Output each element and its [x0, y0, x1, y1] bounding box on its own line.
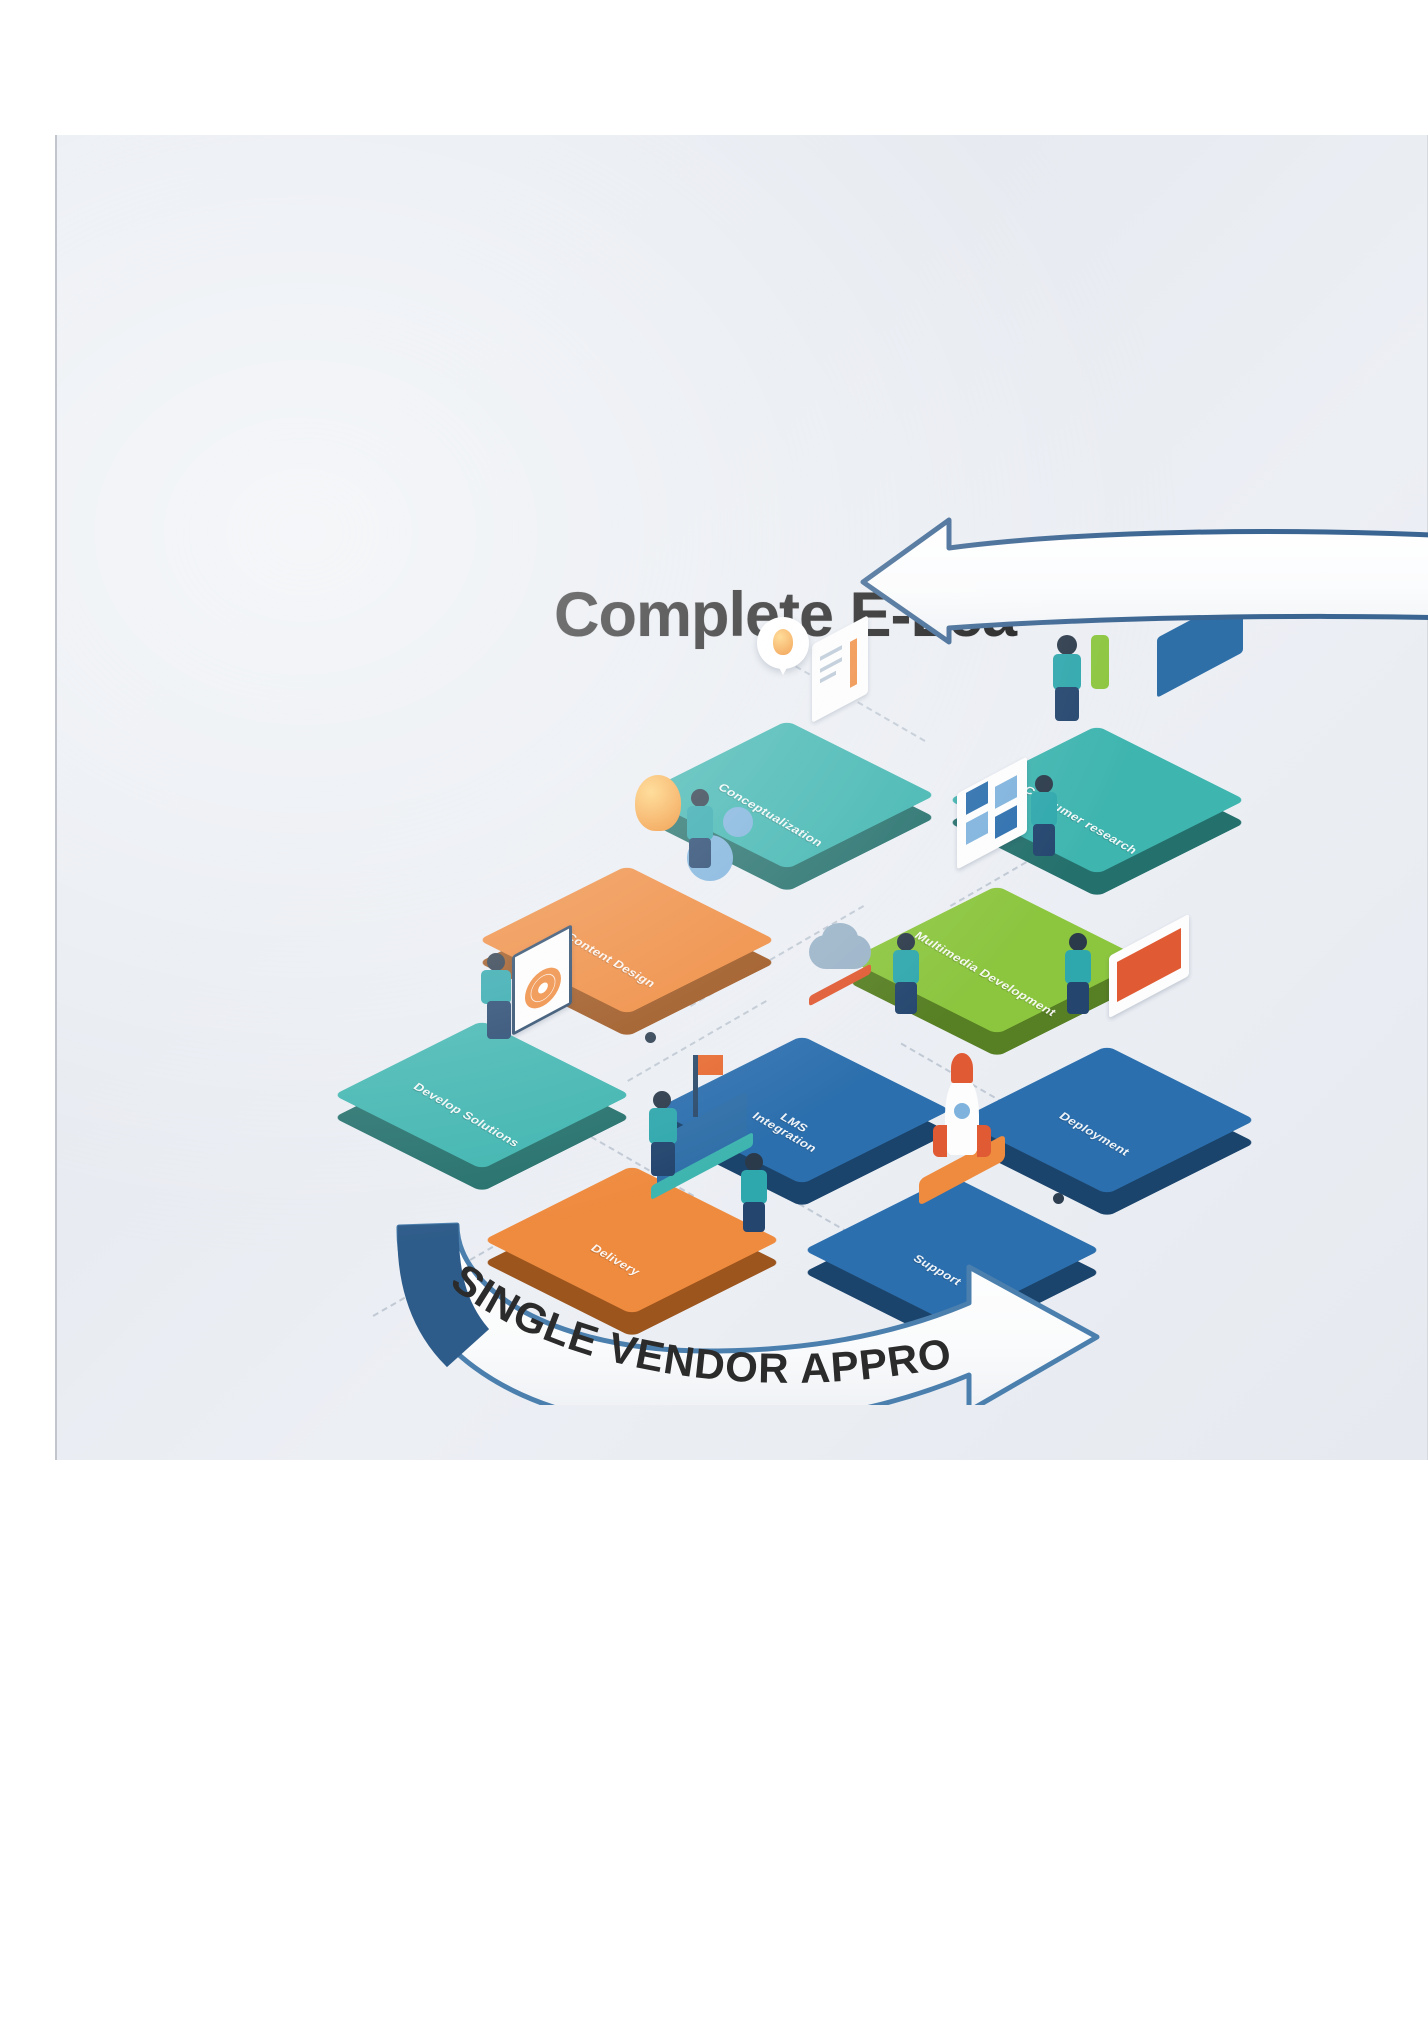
person-body — [481, 970, 511, 1004]
person-body — [687, 806, 713, 840]
person-head — [1035, 775, 1053, 793]
person-head — [691, 789, 709, 807]
person-legs — [1055, 687, 1079, 721]
person-body — [893, 950, 919, 984]
idea-pin-icon — [757, 617, 809, 669]
single-vendor-approach-banner: SINGLE VENDOR APPROACH — [337, 1075, 1157, 1405]
person-legs — [1033, 824, 1055, 856]
gear-icon — [723, 807, 753, 837]
pencil-icon — [850, 638, 857, 688]
cloud-icon — [822, 923, 858, 953]
person-body — [1053, 654, 1081, 690]
person-legs — [689, 838, 711, 868]
person-head — [1069, 933, 1087, 951]
flag-icon — [697, 1055, 723, 1075]
left-arrow-ribbon — [857, 510, 1428, 650]
person-legs — [1067, 982, 1089, 1014]
person-body — [1065, 950, 1091, 984]
person-head — [897, 933, 915, 951]
lightbulb-icon — [635, 775, 681, 831]
document-page: Complete E-Lea Conceptualization — [55, 135, 1428, 1460]
person-body — [1031, 792, 1057, 826]
screenshot-root: Complete E-Lea Conceptualization — [0, 0, 1428, 2018]
isometric-diagram: Conceptualization Consumer research — [57, 135, 1428, 1460]
person-legs — [895, 982, 917, 1014]
person-head — [487, 953, 505, 971]
person-legs — [487, 1001, 511, 1039]
